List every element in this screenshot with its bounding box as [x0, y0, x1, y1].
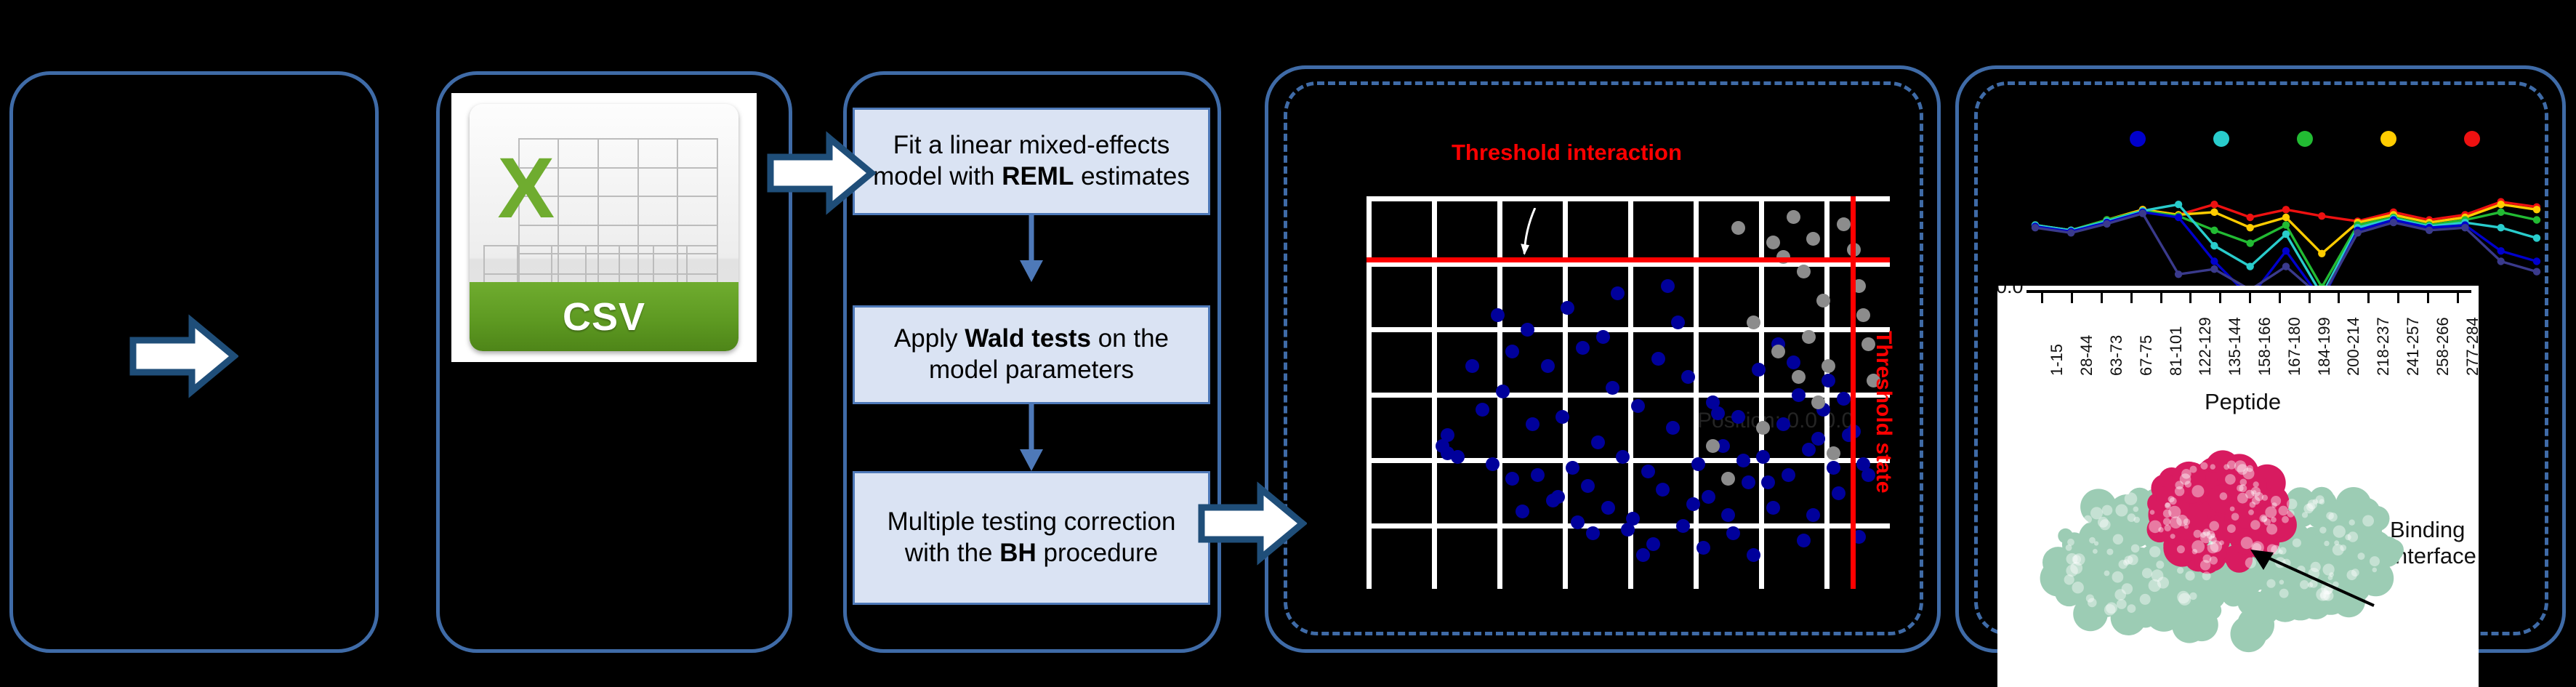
volcano-point-significant: [1641, 465, 1655, 478]
peptide-legend-dot: [2213, 131, 2229, 147]
peptide-tick: [2427, 293, 2429, 303]
peptide-marker: [2247, 262, 2254, 270]
peptide-tick-label: 200-214: [2344, 317, 2363, 376]
peptide-tick-label: 63-73: [2107, 335, 2126, 376]
peptide-tick: [2309, 293, 2311, 303]
volcano-point-significant: [1797, 534, 1811, 547]
peptide-marker: [2175, 214, 2182, 221]
peptide-tick-label: 158-166: [2255, 317, 2274, 376]
csv-file-card: X CSV: [451, 93, 757, 362]
peptide-tick-label: 81-101: [2167, 326, 2186, 376]
peptide-tick: [2071, 293, 2073, 303]
peptide-tick: [2279, 293, 2281, 303]
peptide-marker: [2032, 224, 2039, 231]
peptide-marker: [2282, 230, 2290, 238]
peptide-marker: [2497, 201, 2505, 208]
process-box-wald: Apply Wald tests on the model parameters: [853, 305, 1210, 404]
peptide-structure-inset: Peptide Binding interface 0.01-1528-4463…: [1997, 286, 2479, 687]
peptide-marker: [2210, 227, 2218, 234]
process-box-bh-label: Multiple testing correctionwith the BH p…: [887, 507, 1176, 569]
volcano-point-significant: [1581, 479, 1595, 493]
volcano-point-significant: [1691, 457, 1705, 471]
connector-reml-to-wald: [1015, 215, 1048, 285]
peptide-tick-label: 122-129: [2196, 317, 2215, 376]
peptide-tick-label: 135-144: [2226, 317, 2245, 376]
peptide-tick: [2219, 293, 2221, 303]
volcano-point-significant: [1521, 323, 1534, 337]
volcano-point-significant: [1761, 475, 1775, 489]
connector-wald-to-bh: [1015, 404, 1048, 474]
threshold-state-line: [1851, 196, 1856, 589]
volcano-point-significant: [1496, 385, 1510, 398]
peptide-legend-dot: [2297, 131, 2313, 147]
peptide-marker: [2210, 242, 2218, 249]
volcano-point-significant: [1661, 279, 1675, 293]
peptide-tick-label: 167-180: [2285, 317, 2304, 376]
peptide-tick-label: 258-266: [2434, 317, 2452, 376]
volcano-point-significant: [1596, 330, 1610, 344]
volcano-point-significant: [1566, 461, 1579, 475]
volcano-point-non_significant: [1766, 236, 1780, 249]
peptide-tick: [2367, 293, 2370, 303]
peptide-tick: [2041, 293, 2043, 303]
csv-type-band: CSV: [470, 282, 738, 351]
volcano-point-significant: [1676, 519, 1690, 533]
peptide-marker: [2426, 227, 2433, 234]
peptide-marker: [2318, 212, 2325, 220]
volcano-point-non_significant: [1837, 217, 1851, 231]
peptide-marker: [2497, 224, 2505, 231]
volcano-point-significant: [1827, 461, 1840, 475]
peptide-marker: [2354, 229, 2361, 236]
volcano-point-non_significant: [1721, 472, 1735, 486]
peptide-axis-title: Peptide: [2205, 389, 2281, 415]
volcano-point-significant: [1721, 508, 1735, 522]
volcano-point-non_significant: [1797, 265, 1811, 278]
volcano-point-significant: [1591, 435, 1605, 449]
volcano-point-significant: [1696, 541, 1710, 555]
volcano-gridline-h: [1367, 196, 1890, 201]
peptide-marker: [2390, 219, 2397, 226]
peptide-marker: [2497, 209, 2505, 216]
arrow-model-to-volcano: [1198, 480, 1307, 567]
peptide-marker: [2533, 268, 2540, 276]
volcano-point-significant: [1832, 486, 1846, 500]
peptide-tick: [2101, 293, 2103, 303]
arrow-data-to-model: [767, 129, 876, 217]
peptide-marker: [2210, 201, 2218, 208]
volcano-point-significant: [1486, 457, 1500, 471]
volcano-point-significant: [1526, 417, 1539, 431]
volcano-point-significant: [1766, 501, 1780, 515]
volcano-point-significant: [1752, 363, 1766, 377]
process-box-reml-label: Fit a linear mixed-effects model with RE…: [862, 130, 1201, 192]
peptide-marker: [2497, 247, 2505, 254]
volcano-point-significant: [1811, 432, 1825, 446]
process-box-wald-label: Apply Wald tests on the model parameters: [862, 324, 1201, 385]
volcano-point-significant: [1742, 475, 1755, 489]
volcano-point-significant: [1822, 374, 1835, 387]
volcano-point-significant: [1651, 352, 1665, 366]
volcano-point-significant: [1576, 341, 1590, 355]
volcano-point-significant: [1802, 443, 1816, 457]
volcano-point-significant: [1782, 468, 1795, 482]
volcano-point-significant: [1726, 526, 1740, 540]
csv-type-label: CSV: [563, 294, 645, 340]
volcano-point-significant: [1491, 308, 1505, 322]
volcano-point-significant: [1631, 399, 1645, 413]
peptide-marker: [2282, 214, 2290, 221]
volcano-point-non_significant: [1856, 308, 1870, 322]
volcano-point-significant: [1681, 370, 1695, 384]
volcano-point-non_significant: [1802, 330, 1816, 344]
peptide-tick-label: 28-44: [2077, 335, 2096, 376]
volcano-point-significant: [1702, 490, 1715, 504]
volcano-point-significant: [1601, 501, 1615, 515]
process-box-bh: Multiple testing correctionwith the BH p…: [853, 471, 1210, 605]
peptide-y-tick-label: 0.0: [1997, 286, 2024, 298]
protein-structure-image: [2011, 427, 2447, 667]
volcano-point-significant: [1611, 286, 1625, 300]
volcano-point-significant: [1505, 345, 1519, 358]
peptide-tick: [2338, 293, 2340, 303]
peptide-tick-label: 1-15: [2048, 344, 2066, 376]
volcano-point-non_significant: [1792, 370, 1806, 384]
peptide-tick-label: 241-257: [2404, 317, 2423, 376]
volcano-point-significant: [1666, 421, 1680, 435]
volcano-point-significant: [1451, 450, 1465, 464]
volcano-point-significant: [1541, 359, 1555, 373]
volcano-point-non_significant: [1806, 232, 1820, 246]
peptide-marker: [2282, 221, 2290, 228]
peptide-marker: [2533, 234, 2540, 241]
peptide-legend-dot: [2380, 131, 2396, 147]
threshold-state-label: Threshold state: [1871, 331, 1896, 493]
peptide-marker: [2067, 229, 2074, 236]
volcano-point-significant: [1476, 403, 1489, 417]
volcano-point-significant: [1561, 301, 1574, 315]
volcano-point-significant: [1546, 494, 1560, 507]
peptide-tick-label: 218-237: [2374, 317, 2393, 376]
volcano-point-significant: [1731, 410, 1745, 424]
peptide-marker: [2533, 216, 2540, 223]
excel-x-glyph: X: [483, 118, 569, 257]
peptide-marker: [2282, 262, 2290, 270]
volcano-point-significant: [1747, 548, 1760, 562]
peptide-tick-label: 67-75: [2137, 335, 2156, 376]
peptide-tick: [2160, 293, 2162, 303]
peptide-marker: [2210, 257, 2218, 265]
volcano-point-significant: [1837, 392, 1851, 406]
csv-icon-body: X CSV: [470, 104, 738, 351]
peptide-tick: [2249, 293, 2251, 303]
volcano-point-significant: [1636, 548, 1650, 562]
peptide-marker: [2103, 220, 2110, 228]
volcano-point-significant: [1441, 428, 1454, 442]
volcano-point-significant: [1516, 505, 1529, 518]
csv-file-icon: X CSV: [451, 93, 757, 362]
peptide-marker: [2210, 265, 2218, 273]
peptide-legend-dot: [2130, 131, 2146, 147]
peptide-marker: [2175, 201, 2182, 208]
peptide-marker: [2282, 247, 2290, 254]
volcano-point-non_significant: [1731, 221, 1745, 235]
peptide-marker: [2139, 209, 2146, 217]
peptide-marker: [2533, 257, 2540, 265]
peptide-marker: [2318, 250, 2325, 257]
peptide-tick: [2397, 293, 2399, 303]
volcano-point-significant: [1531, 468, 1545, 482]
peptide-legend-dot: [2464, 131, 2480, 147]
volcano-point-significant: [1646, 537, 1660, 551]
volcano-gridline-h: [1367, 393, 1890, 398]
peptide-profile-plot: [1992, 109, 2548, 313]
peptide-marker: [2247, 239, 2254, 246]
volcano-gridline-h: [1367, 262, 1890, 267]
peptide-tick: [2457, 293, 2459, 303]
volcano-point-significant: [1656, 483, 1670, 497]
peptide-tick: [2189, 293, 2191, 303]
volcano-point-significant: [1806, 508, 1820, 522]
peptide-marker: [2497, 257, 2505, 265]
volcano-point-significant: [1686, 497, 1700, 511]
peptide-tick-label: 277-284: [2463, 317, 2479, 376]
volcano-point-significant: [1465, 359, 1479, 373]
peptide-marker: [2461, 224, 2468, 231]
process-box-reml: Fit a linear mixed-effects model with RE…: [853, 108, 1210, 215]
peptide-marker: [2210, 209, 2218, 216]
arrow-into-input: [129, 313, 238, 400]
volcano-point-significant: [1586, 526, 1600, 540]
volcano-point-significant: [1736, 454, 1750, 467]
volcano-plot: Position: 0.0 0.0: [1367, 196, 1890, 589]
volcano-point-non_significant: [1771, 345, 1785, 358]
volcano-point-non_significant: [1787, 210, 1800, 224]
peptide-marker: [2247, 224, 2254, 231]
volcano-point-non_significant: [1827, 446, 1840, 460]
volcano-point-significant: [1776, 417, 1790, 431]
peptide-marker: [2533, 206, 2540, 213]
volcano-point-non_significant: [1822, 359, 1835, 373]
peptide-tick-label: 184-199: [2315, 317, 2334, 376]
volcano-point-significant: [1787, 355, 1800, 369]
peptide-marker: [2282, 206, 2290, 213]
peptide-marker: [2247, 214, 2254, 221]
volcano-point-significant: [1792, 388, 1806, 402]
volcano-point-significant: [1505, 472, 1519, 486]
volcano-point-significant: [1671, 316, 1685, 329]
volcano-point-significant: [1621, 523, 1635, 537]
volcano-point-non_significant: [1747, 316, 1760, 329]
threshold-interaction-label: Threshold interaction: [1452, 140, 1682, 166]
threshold-interaction-line: [1367, 257, 1890, 262]
threshold-pointer-icon: [1521, 208, 1539, 255]
peptide-marker: [2175, 270, 2182, 278]
peptide-tick: [2130, 293, 2133, 303]
volcano-point-significant: [1571, 515, 1585, 529]
